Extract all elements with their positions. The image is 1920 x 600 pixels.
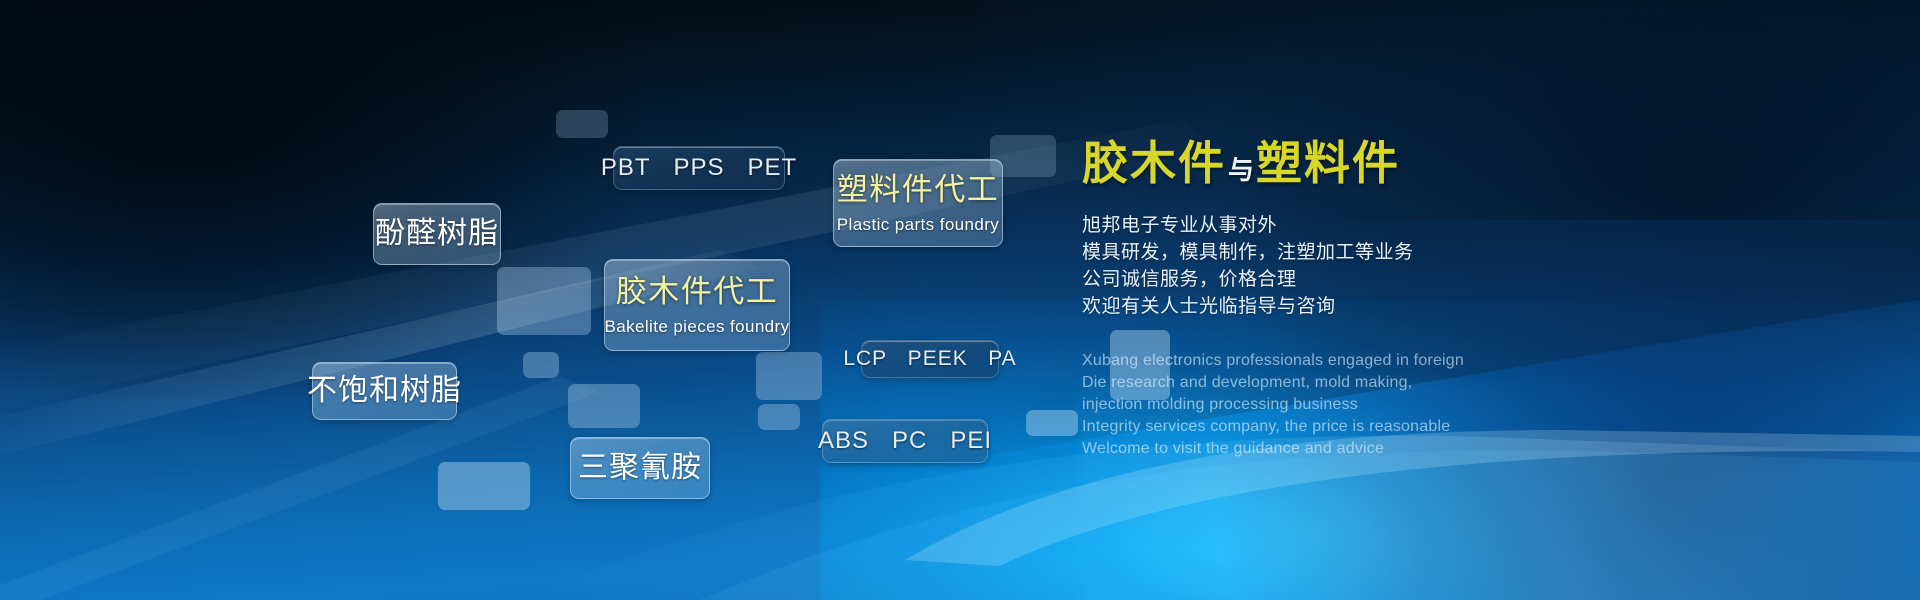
- feature-chip-en-label: Plastic parts foundry: [837, 215, 999, 235]
- promo-banner: PBT PPS PET 酚醛树脂 塑料件代工 Plastic parts fou…: [0, 0, 1920, 600]
- feature-chip-en-label: Bakelite pieces foundry: [605, 317, 790, 337]
- description-en-line: Die research and development, mold makin…: [1082, 372, 1782, 394]
- feature-chip-bakelite-foundry[interactable]: 胶木件代工 Bakelite pieces foundry: [604, 259, 790, 351]
- description-en-line: injection molding processing business: [1082, 394, 1782, 416]
- resin-chip-melamine[interactable]: 三聚氰胺: [570, 437, 710, 499]
- description-english: Xubang electronics professionals engaged…: [1082, 350, 1782, 460]
- headline-part2: 塑料件: [1256, 137, 1400, 189]
- resin-chip-label: 三聚氰胺: [578, 451, 702, 486]
- deco-square-7: [758, 404, 800, 430]
- deco-square-3: [497, 267, 591, 335]
- resin-chip-label: 酚醛树脂: [375, 217, 499, 252]
- material-chip-abs-pc-pei[interactable]: ABS PC PEI: [822, 419, 988, 463]
- description-en-line: Welcome to visit the guidance and advice: [1082, 438, 1782, 460]
- headline-part1: 胶木件: [1082, 137, 1226, 189]
- background-dark-left-glow: [0, 0, 640, 400]
- description-chinese: 旭邦电子专业从事对外 模具研发，模具制作，注塑加工等业务 公司诚信服务，价格合理…: [1082, 212, 1782, 320]
- material-chip-label: LCP PEEK PA: [843, 347, 1016, 371]
- copy-block: 胶木件与塑料件 旭邦电子专业从事对外 模具研发，模具制作，注塑加工等业务 公司诚…: [1082, 140, 1782, 460]
- headline: 胶木件与塑料件: [1082, 140, 1782, 186]
- description-cn-line: 公司诚信服务，价格合理: [1082, 266, 1782, 293]
- deco-square-4: [523, 352, 559, 378]
- description-en-line: Xubang electronics professionals engaged…: [1082, 350, 1782, 372]
- deco-square-5: [568, 384, 640, 428]
- deco-square-8: [438, 462, 530, 510]
- description-cn-line: 旭邦电子专业从事对外: [1082, 212, 1782, 239]
- material-chip-label: ABS PC PEI: [818, 427, 992, 455]
- feature-chip-cn-label: 胶木件代工: [616, 273, 779, 310]
- material-chip-label: PBT PPS PET: [601, 154, 797, 182]
- resin-chip-phenolic-resin[interactable]: 酚醛树脂: [373, 203, 501, 265]
- feature-chip-plastic-foundry[interactable]: 塑料件代工 Plastic parts foundry: [833, 159, 1003, 247]
- resin-chip-label: 不饱和树脂: [307, 374, 462, 409]
- deco-square-9: [1026, 410, 1078, 436]
- material-chip-lcp-peek-pa[interactable]: LCP PEEK PA: [861, 340, 999, 378]
- headline-conjunction: 与: [1228, 155, 1254, 185]
- description-en-line: Integrity services company, the price is…: [1082, 416, 1782, 438]
- material-chip-pbt-pps-pet[interactable]: PBT PPS PET: [613, 146, 785, 190]
- description-cn-line: 模具研发，模具制作，注塑加工等业务: [1082, 239, 1782, 266]
- deco-square-6: [756, 352, 822, 400]
- description-cn-line: 欢迎有关人士光临指导与咨询: [1082, 293, 1782, 320]
- feature-chip-cn-label: 塑料件代工: [837, 171, 1000, 208]
- deco-square-1: [556, 110, 608, 138]
- resin-chip-unsaturated-resin[interactable]: 不饱和树脂: [312, 362, 457, 420]
